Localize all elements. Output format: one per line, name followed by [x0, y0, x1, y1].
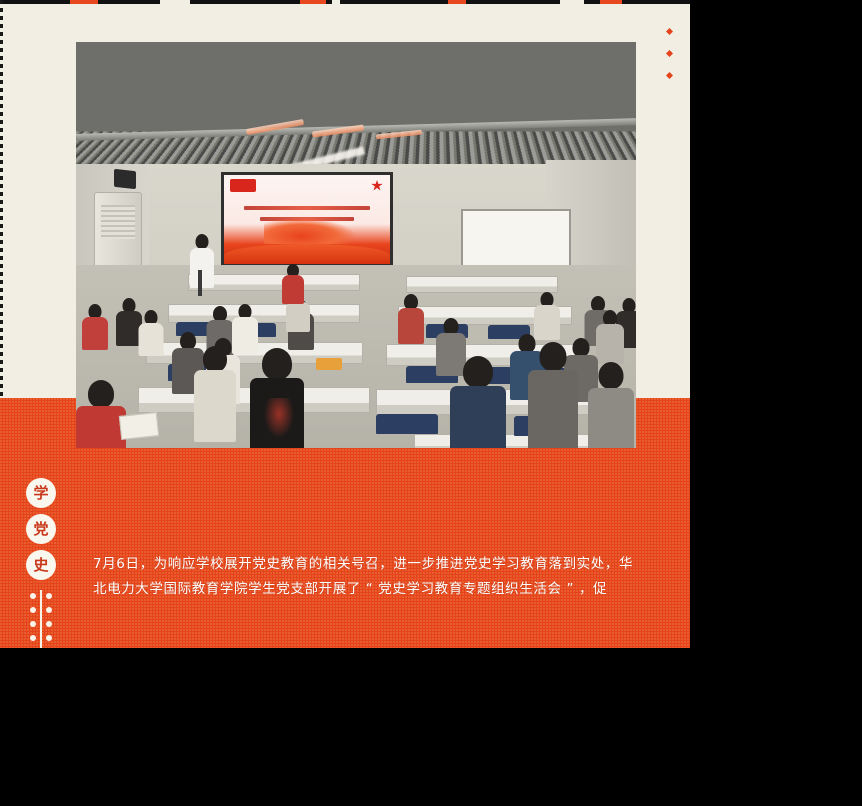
attendee-front — [528, 342, 578, 448]
tshirt-print — [264, 398, 294, 438]
attendee — [398, 294, 424, 344]
attendee — [282, 264, 304, 304]
desk-row — [168, 304, 360, 323]
attendee — [138, 310, 163, 356]
article-paragraph: 北电力大学国际教育学院学生党支部开展了 “ 党史学习教育专题组织生活会 ” ，促 — [93, 577, 653, 602]
party-flag-icon — [371, 180, 383, 191]
slide-content — [224, 175, 390, 264]
attendee-front — [194, 346, 236, 442]
desk-item — [316, 358, 342, 370]
attendee — [82, 304, 108, 350]
slide-wave — [224, 244, 390, 264]
article-body: 7月6日，为响应学校展开党史教育的相关号召，进一步推进党史学习教育落到实处，华 … — [93, 552, 653, 602]
rail-badge-dang[interactable]: 党 — [26, 514, 56, 544]
top-accent-strip — [0, 0, 690, 4]
article-paragraph: 7月6日，为响应学校展开党史教育的相关号召，进一步推进党史学习教育落到实处，华 — [93, 552, 653, 577]
rail-badge-xue[interactable]: 学 — [26, 478, 56, 508]
diamond-dot-icon — [666, 72, 673, 79]
slide-title-line-1 — [244, 206, 370, 210]
rail-badge-shi[interactable]: 史 — [26, 550, 56, 580]
handout-paper — [119, 412, 159, 440]
classroom-meeting-photo — [76, 42, 636, 448]
slide-artwork — [264, 218, 357, 244]
microphone-stand — [198, 270, 202, 296]
attendee — [596, 310, 624, 364]
photo-frame — [76, 42, 636, 448]
attendee-front — [76, 380, 126, 448]
study-party-history-rail: 学 党 史 — [23, 478, 59, 648]
dotted-divider-icon — [26, 590, 56, 648]
wall-speaker — [114, 169, 136, 189]
desk-row — [406, 276, 558, 293]
projection-screen — [221, 172, 393, 267]
attendee-front — [588, 362, 634, 448]
diamond-dot-icon — [666, 50, 673, 57]
attendee-front — [450, 356, 506, 448]
presenter — [190, 234, 214, 288]
page-root: 学 党 史 7月6日，为响应学校展开党史教育的相关号召，进一步推进党史学习教育落… — [0, 0, 862, 806]
diamond-dot-icon — [666, 28, 673, 35]
attendee — [534, 292, 560, 340]
right-dot-markers — [666, 28, 678, 94]
chair-back — [376, 414, 438, 434]
anniversary-emblem-icon — [230, 179, 256, 192]
